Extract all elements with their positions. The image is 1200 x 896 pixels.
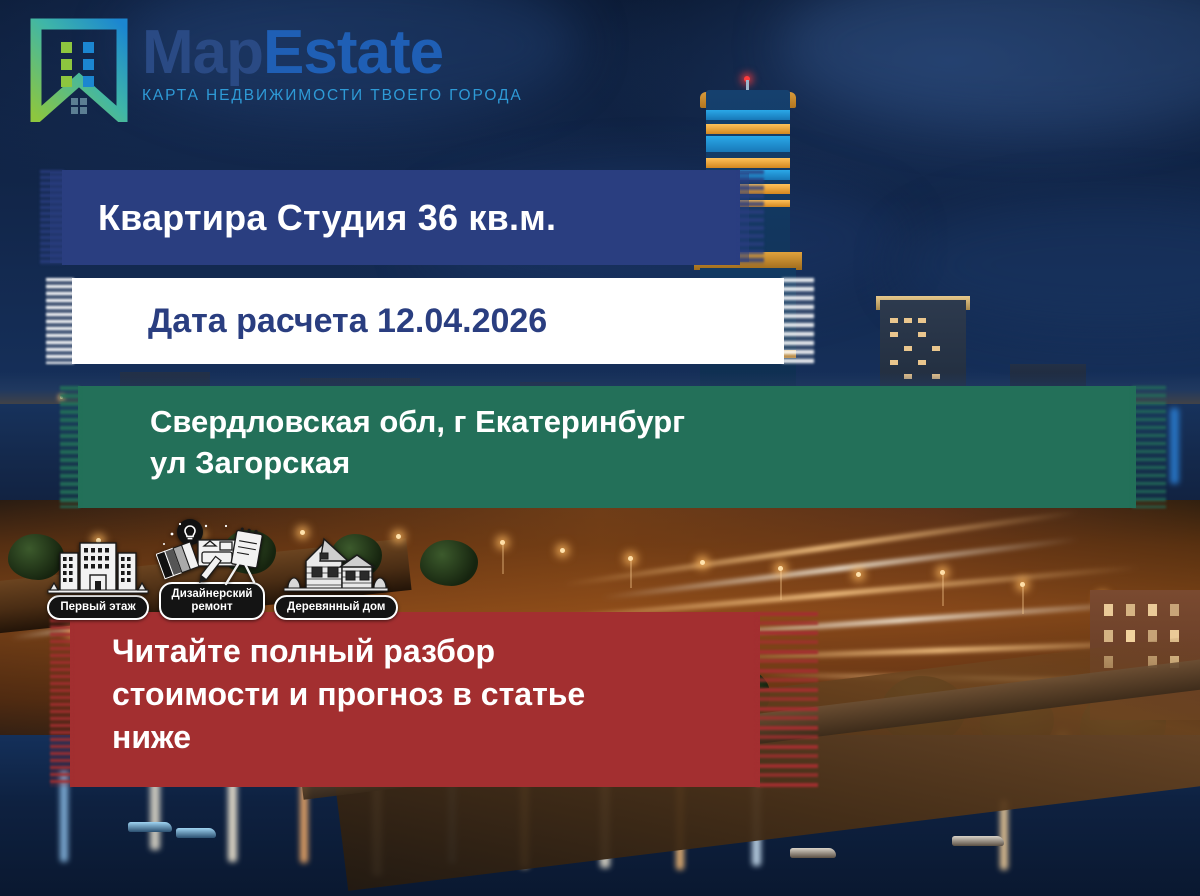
cta-banner[interactable]: Читайте полный разбор стоимости и прогно… <box>70 612 760 787</box>
calculation-date-banner: Дата расчета 12.04.2026 <box>72 278 784 364</box>
poster: MapEstate КАРТА НЕДВИЖИМОСТИ ТВОЕГО ГОРО… <box>0 0 1200 896</box>
feature-badges: Первый этаж <box>46 518 398 620</box>
address-banner: Свердловская обл, г Екатеринбург ул Заго… <box>78 386 1136 508</box>
brand-tagline: КАРТА НЕДВИЖИМОСТИ ТВОЕГО ГОРОДА <box>142 87 523 105</box>
brand-name-estate: Estate <box>263 18 443 87</box>
badge-wooden-house[interactable]: Деревянный дом <box>274 535 398 620</box>
brand-logo[interactable]: MapEstate КАРТА НЕДВИЖИМОСТИ ТВОЕГО ГОРО… <box>30 18 523 122</box>
address-text: Свердловская обл, г Екатеринбург ул Заго… <box>78 386 685 484</box>
design-renovation-icon <box>156 518 268 588</box>
brand-wordmark: MapEstate КАРТА НЕДВИЖИМОСТИ ТВОЕГО ГОРО… <box>142 18 523 105</box>
property-title-text: Квартира Студия 36 кв.м. <box>62 197 556 239</box>
apartment-building-icon <box>46 539 150 601</box>
cta-text: Читайте полный разбор стоимости и прогно… <box>70 612 585 760</box>
property-title-banner: Квартира Студия 36 кв.м. <box>62 170 740 265</box>
brand-name: MapEstate <box>142 24 523 83</box>
badge-first-floor[interactable]: Первый этаж <box>46 539 150 620</box>
badge-designer-renovation[interactable]: Дизайнерский ремонт <box>156 518 268 620</box>
wooden-house-icon <box>284 535 388 601</box>
brand-name-map: Map <box>142 18 263 87</box>
calculation-date-text: Дата расчета 12.04.2026 <box>72 302 547 341</box>
bookmark-building-icon <box>30 18 128 122</box>
